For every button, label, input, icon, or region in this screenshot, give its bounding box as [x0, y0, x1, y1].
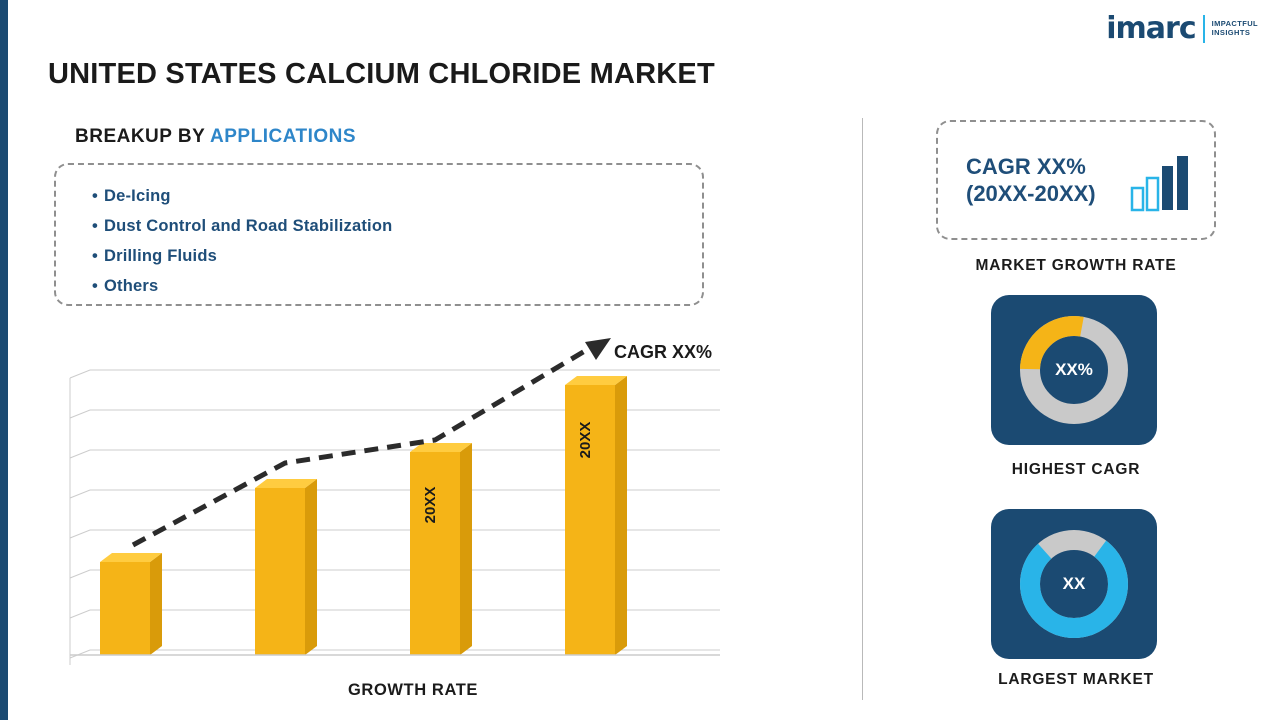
- bar-2: [255, 479, 317, 655]
- highest-cagr-tile: XX%: [991, 295, 1157, 445]
- bullet-icon: •: [92, 277, 98, 295]
- logo-wordmark-text: imarc: [1106, 11, 1195, 46]
- page-title: UNITED STATES CALCIUM CHLORIDE MARKET: [48, 58, 715, 91]
- applications-box: •De-Icing •Dust Control and Road Stabili…: [54, 163, 704, 306]
- highest-cagr-value: XX%: [991, 360, 1157, 380]
- largest-market-tile: XX: [991, 509, 1157, 659]
- list-item-label: Others: [104, 277, 158, 295]
- chart-cagr-annotation: CAGR XX%: [614, 342, 712, 363]
- left-accent-bar: [0, 0, 8, 720]
- largest-market-caption: LARGEST MARKET: [936, 671, 1216, 689]
- bar-3-label: 20XX: [422, 487, 439, 524]
- bullet-icon: •: [92, 217, 98, 235]
- bar-3: 20XX: [410, 443, 472, 655]
- breakup-heading: BREAKUP BY APPLICATIONS: [75, 126, 356, 148]
- list-item-label: Dust Control and Road Stabilization: [104, 217, 392, 235]
- cagr-box: CAGR XX% (20XX-20XX): [936, 120, 1216, 240]
- highest-cagr-caption: HIGHEST CAGR: [936, 461, 1216, 479]
- logo-tagline-line2: INSIGHTS: [1212, 29, 1258, 38]
- cagr-text: CAGR XX% (20XX-20XX): [966, 153, 1096, 208]
- bullet-icon: •: [92, 247, 98, 265]
- breakup-prefix: BREAKUP BY: [75, 126, 210, 147]
- breakup-accent: APPLICATIONS: [210, 126, 356, 147]
- bar-chart-icon: [1130, 154, 1190, 217]
- bar-4: 20XX: [565, 376, 627, 655]
- vertical-divider: [862, 118, 863, 700]
- bar-1: [100, 553, 162, 655]
- logo-wordmark: imarc: [1106, 14, 1195, 44]
- growth-rate-bar-chart: 20XX 20XX: [45, 330, 765, 710]
- list-item: •De-Icing: [92, 181, 702, 211]
- chart-axis-title: GROWTH RATE: [348, 681, 478, 700]
- logo-tagline: IMPACTFUL INSIGHTS: [1212, 20, 1258, 37]
- imarc-logo: imarc IMPACTFUL INSIGHTS: [1106, 14, 1258, 44]
- largest-market-value: XX: [991, 574, 1157, 594]
- list-item: •Others: [92, 271, 702, 301]
- list-item-label: Drilling Fluids: [104, 247, 217, 265]
- market-growth-rate-caption: MARKET GROWTH RATE: [936, 257, 1216, 275]
- logo-divider: [1203, 15, 1205, 43]
- bullet-icon: •: [92, 187, 98, 205]
- list-item: •Drilling Fluids: [92, 241, 702, 271]
- bar-4-label: 20XX: [577, 422, 594, 459]
- trend-arrow: [133, 338, 611, 545]
- cagr-line2: (20XX-20XX): [966, 180, 1096, 208]
- list-item-label: De-Icing: [104, 187, 171, 205]
- cagr-line1: CAGR XX%: [966, 153, 1096, 181]
- list-item: •Dust Control and Road Stabilization: [92, 211, 702, 241]
